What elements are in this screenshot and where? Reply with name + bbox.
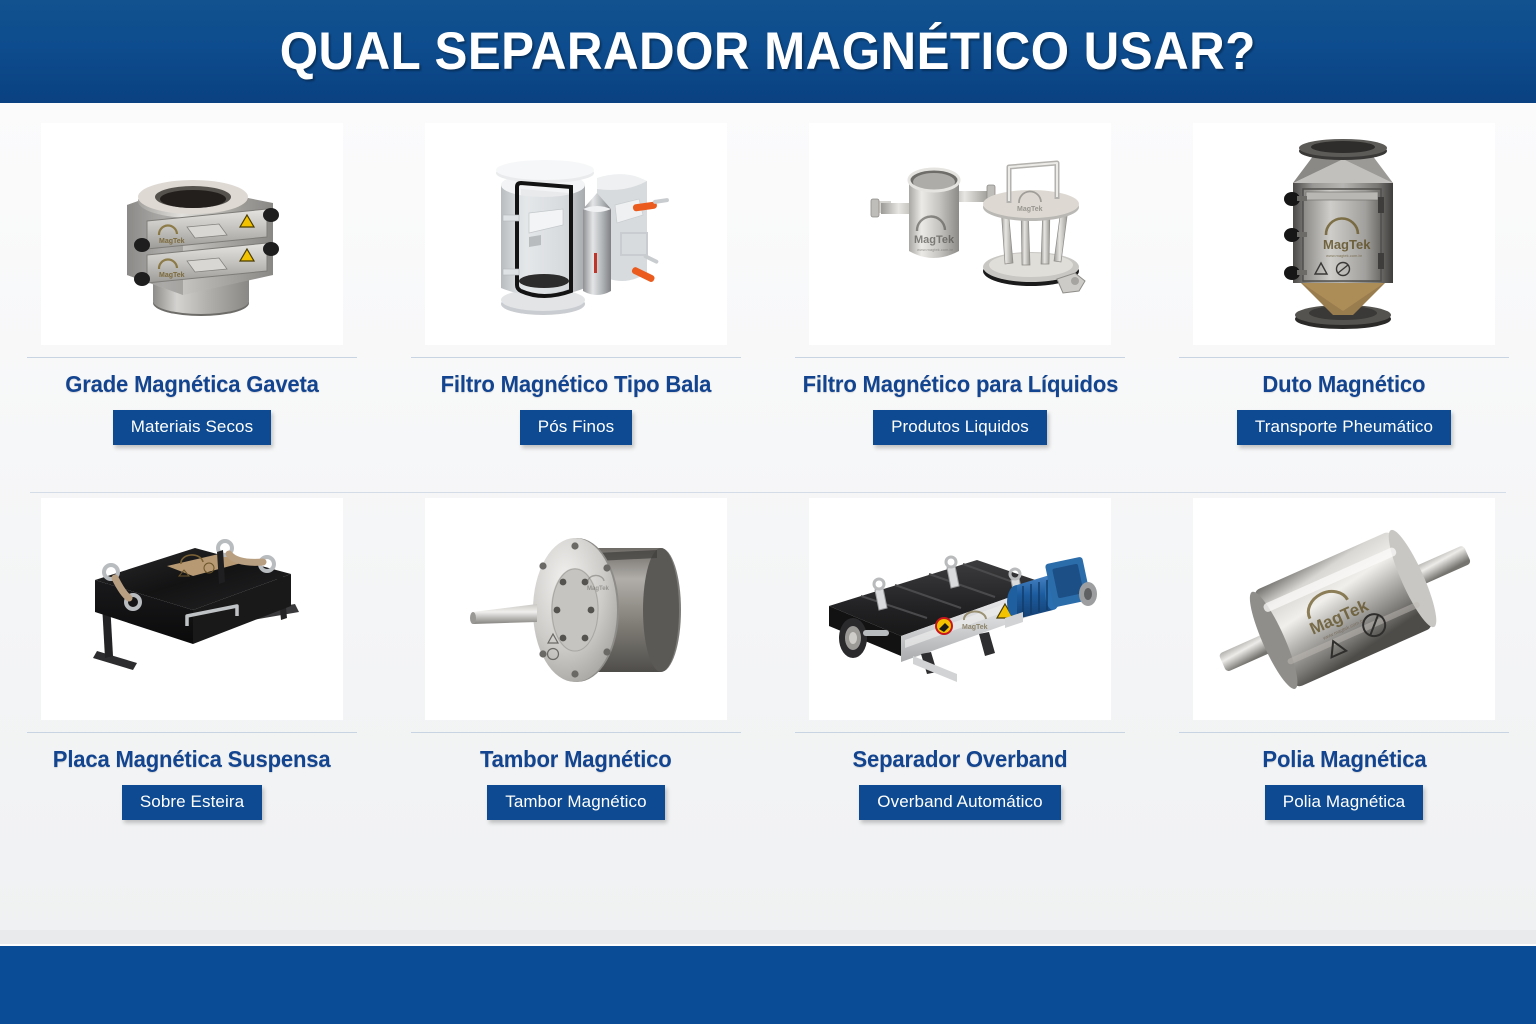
suspended-magnetic-plate-image	[41, 498, 343, 720]
tile-underline	[27, 732, 357, 733]
tile-underline	[411, 357, 741, 358]
product-badge[interactable]: Polia Magnética	[1265, 785, 1423, 820]
product-row-2: Placa Magnética Suspensa Sobre Esteira	[0, 498, 1536, 868]
product-row-1: MagTek MagTek Grade Magnética Gaveta Mat…	[0, 123, 1536, 493]
product-card-filtro-magnetico-para-liquidos[interactable]: MagTek www.magtek.com.br	[768, 123, 1152, 493]
product-badge[interactable]: Transporte Pheumático	[1237, 410, 1451, 445]
product-title: Duto Magnético	[1263, 371, 1426, 398]
product-card-tambor-magnetico[interactable]: MagTek Tambor Magnético Tambor Magnético	[384, 498, 768, 868]
bullet-magnetic-filter-image	[425, 123, 727, 345]
product-title: Separador Overband	[853, 746, 1068, 773]
tile-underline	[1179, 357, 1509, 358]
footer-strip	[0, 930, 1536, 946]
product-title: Filtro Magnético para Líquidos	[802, 371, 1118, 398]
product-card-duto-magnetico[interactable]: MagTek www.magtek.com.br Du	[1152, 123, 1536, 493]
page-title: QUAL SEPARADOR MAGNÉTICO USAR?	[280, 21, 1256, 82]
product-title: Placa Magnética Suspensa	[53, 746, 331, 773]
product-badge[interactable]: Materiais Secos	[113, 410, 271, 445]
page-header: QUAL SEPARADOR MAGNÉTICO USAR?	[0, 0, 1536, 103]
magnetic-pulley-image: MagTek www.magtek.com.br	[1193, 498, 1495, 720]
product-badge[interactable]: Sobre Esteira	[122, 785, 262, 820]
liquid-magnetic-filter-image: MagTek www.magtek.com.br	[809, 123, 1111, 345]
svg-text:MagTek: MagTek	[587, 586, 610, 592]
svg-text:MagTek: MagTek	[962, 624, 988, 631]
page-footer	[0, 946, 1536, 1024]
svg-text:MagTek: MagTek	[159, 238, 185, 245]
product-title: Filtro Magnético Tipo Bala	[441, 371, 712, 398]
product-badge[interactable]: Tambor Magnético	[487, 785, 664, 820]
tile-underline	[411, 732, 741, 733]
svg-text:MagTek: MagTek	[159, 272, 185, 279]
tile-underline	[27, 357, 357, 358]
product-title: Grade Magnética Gaveta	[65, 371, 318, 398]
product-card-filtro-magnetico-tipo-bala[interactable]: Filtro Magnético Tipo Bala Pós Finos	[384, 123, 768, 493]
tile-underline	[795, 357, 1125, 358]
magnetic-grate-drawer-image: MagTek MagTek	[41, 123, 343, 345]
svg-text:www.magtek.com.br: www.magtek.com.br	[917, 247, 954, 252]
svg-text:MagTek: MagTek	[914, 234, 955, 246]
product-badge[interactable]: Overband Automático	[859, 785, 1060, 820]
product-title: Polia Magnética	[1262, 746, 1426, 773]
overband-separator-image: MagTek	[809, 498, 1111, 720]
product-grid-area: MagTek MagTek Grade Magnética Gaveta Mat…	[0, 103, 1536, 946]
svg-text:www.magtek.com.br: www.magtek.com.br	[1326, 253, 1363, 258]
product-title: Tambor Magnético	[480, 746, 672, 773]
product-card-polia-magnetica[interactable]: MagTek www.magtek.com.br Polia Magnética…	[1152, 498, 1536, 868]
magnetic-drum-image: MagTek	[425, 498, 727, 720]
product-badge[interactable]: Pós Finos	[520, 410, 633, 445]
product-card-separador-overband[interactable]: MagTek	[768, 498, 1152, 868]
tile-underline	[795, 732, 1125, 733]
product-card-placa-magnetica-suspensa[interactable]: Placa Magnética Suspensa Sobre Esteira	[0, 498, 384, 868]
svg-text:MagTek: MagTek	[1323, 237, 1371, 252]
svg-text:MagTek: MagTek	[1017, 206, 1043, 213]
product-badge[interactable]: Produtos Liquidos	[873, 410, 1047, 445]
tile-underline	[1179, 732, 1509, 733]
magnetic-duct-image: MagTek www.magtek.com.br	[1193, 123, 1495, 345]
product-card-grade-magnetica-gaveta[interactable]: MagTek MagTek Grade Magnética Gaveta Mat…	[0, 123, 384, 493]
